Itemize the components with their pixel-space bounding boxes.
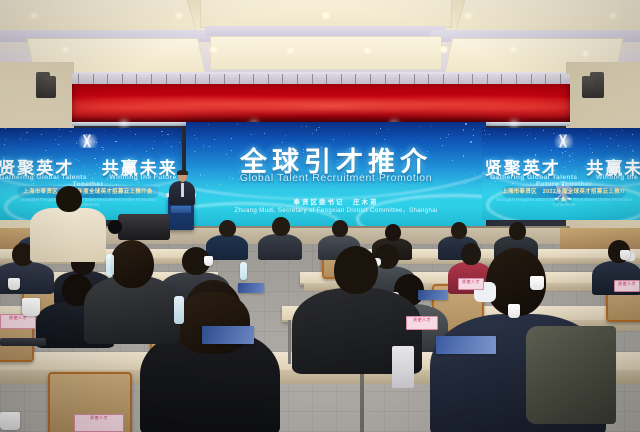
hair xyxy=(176,292,250,354)
camera-lens xyxy=(108,220,122,234)
side-screen-right: 贤聚英才 共赢未来 Gathering Global Talents Winni… xyxy=(482,128,640,220)
tea-cup xyxy=(0,412,20,430)
ceiling-downlight xyxy=(60,46,71,53)
ceiling-downlight xyxy=(285,47,296,54)
ceiling-downlight xyxy=(28,12,40,19)
ceiling-downlight xyxy=(208,46,219,53)
event-logo-left-icon xyxy=(73,134,103,148)
nameplate: 贤使人才 xyxy=(74,414,124,432)
nameplate-text: 贤使人才 xyxy=(459,279,483,289)
wall-speaker-left-2 xyxy=(44,76,56,98)
nameplate: 贤使人才 xyxy=(614,280,640,292)
nameplate-text: 贤使人才 xyxy=(75,415,123,431)
red-stage-valance xyxy=(72,84,570,124)
tote-bag xyxy=(392,346,414,388)
tea-cup xyxy=(508,304,520,318)
side-right-en-1: Gathering Global Talents xyxy=(490,174,578,181)
tea-cup xyxy=(8,278,20,290)
video-camera xyxy=(118,214,170,240)
stage-lip-glow xyxy=(510,121,518,126)
podium-plate xyxy=(171,206,191,213)
draped-coat xyxy=(526,326,616,424)
tea-cup xyxy=(204,256,213,266)
event-logo-right-icon xyxy=(549,134,579,148)
water-bottle xyxy=(240,262,247,280)
ceiling-downlight xyxy=(607,12,619,19)
tea-cup xyxy=(22,298,40,316)
laptop xyxy=(0,338,46,346)
ceiling-downlight xyxy=(462,12,474,19)
conference-hall-photo: 贤聚英才 共赢未来 Gathering Global Talents Winni… xyxy=(0,0,640,432)
main-stage-screen: 全球引才推介 Global Talent Recruitment Promoti… xyxy=(186,122,486,228)
ceiling-downlight xyxy=(173,12,185,19)
nameplate-text: 贤使人才 xyxy=(407,317,437,329)
desk-leg xyxy=(288,320,291,364)
ceiling-downlight xyxy=(320,12,332,19)
stage-lip-glow xyxy=(120,121,128,126)
brochure xyxy=(436,336,496,354)
ceiling-downlight xyxy=(362,47,373,54)
side-right-banner-en: Shanghai Fengxian 2022 Global Talent Rec… xyxy=(495,197,633,207)
podium-speaker xyxy=(166,170,198,202)
brochure xyxy=(418,290,448,300)
nameplate: 贤使人才 xyxy=(0,314,36,329)
main-screen-speaker-en: Zhuang Mudi, Secretary of Fengxian Distr… xyxy=(186,205,486,214)
ceiling-downlight xyxy=(508,46,519,53)
side-left-en-1: Gathering Global Talents xyxy=(0,174,87,181)
desk-leg xyxy=(360,370,364,432)
brochure xyxy=(238,283,264,293)
main-screen-title-en: Global Talent Recruitment Promotion xyxy=(186,172,486,184)
water-bottle xyxy=(106,254,114,276)
ceiling-beam-2 xyxy=(205,26,445,36)
tea-cup xyxy=(530,276,544,290)
brochure xyxy=(202,326,254,344)
ceiling-panel-5 xyxy=(210,36,442,70)
tea-cup xyxy=(620,250,630,260)
nameplate: 贤使人才 xyxy=(458,278,484,290)
ceiling-downlight xyxy=(438,46,449,53)
cameraman-operator xyxy=(84,244,180,340)
nameplate: 贤使人才 xyxy=(406,316,438,330)
nameplate-text: 贤使人才 xyxy=(1,315,35,328)
nameplate-text: 贤使人才 xyxy=(615,281,639,291)
wall-speaker-right-2 xyxy=(582,76,594,98)
ceiling-downlight xyxy=(580,50,591,57)
water-bottle xyxy=(174,296,184,324)
